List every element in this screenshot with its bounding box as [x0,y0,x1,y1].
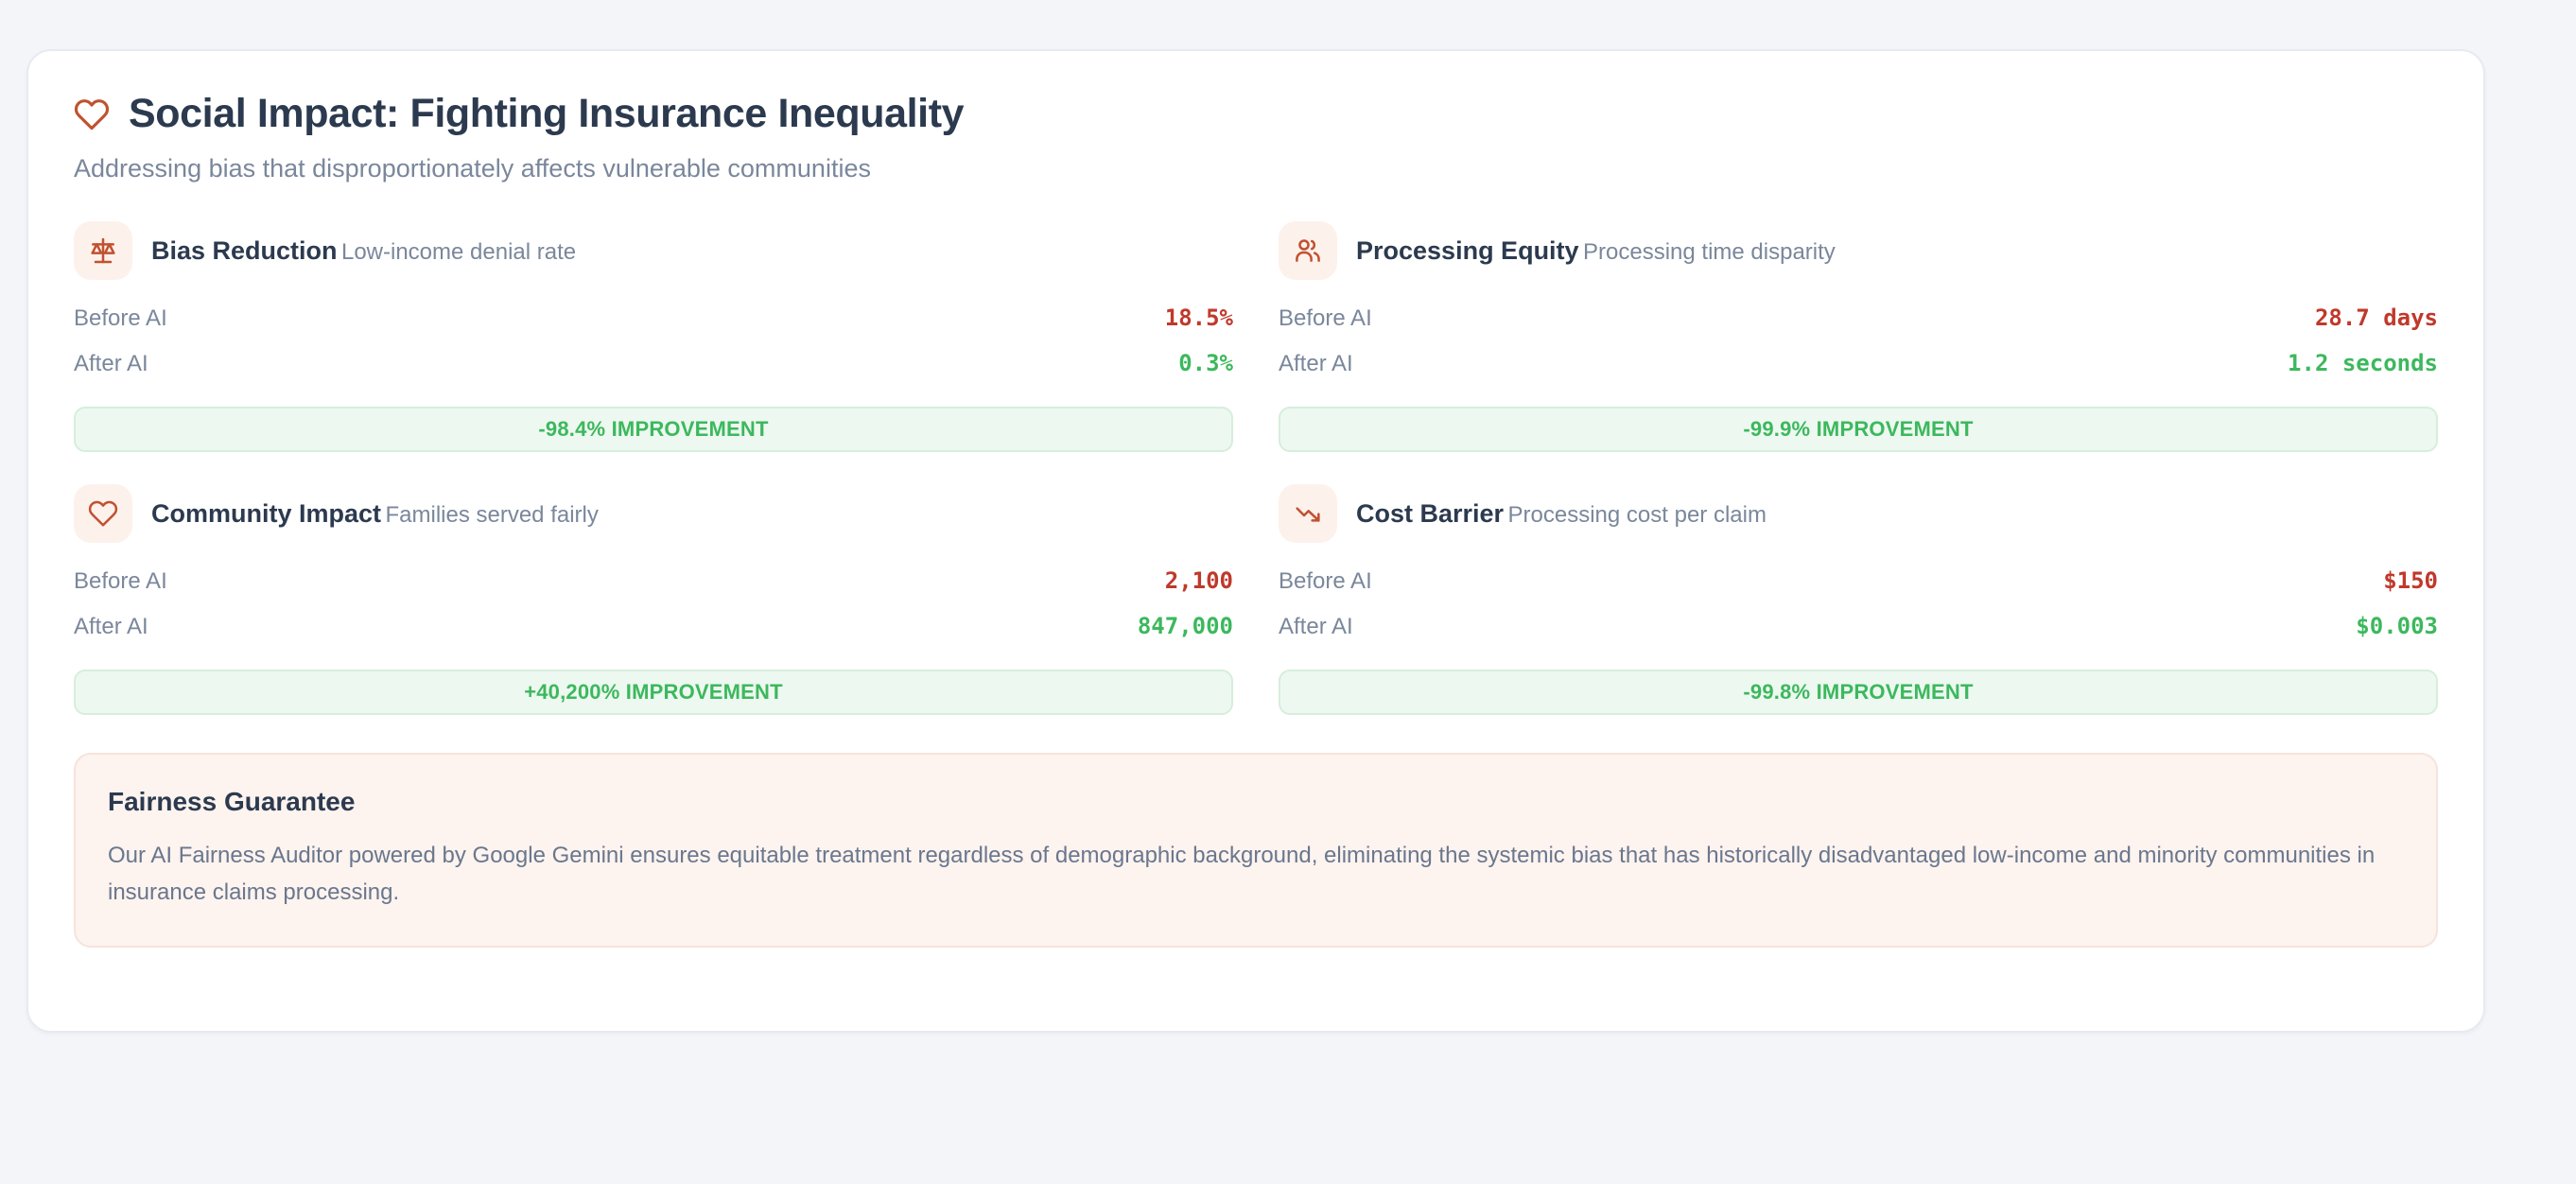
heart-icon [74,484,132,543]
heart-icon [74,96,110,132]
metric-rows: Before AI 18.5% After AI 0.3% [74,305,1233,395]
metric-row-after: After AI 1.2 seconds [1279,350,2438,395]
metric-label: Community Impact [151,499,381,528]
metric-row-before: Before AI 2,100 [74,567,1233,613]
row-value-before: 28.7 days [2315,305,2438,331]
metric-label: Processing Equity [1356,236,1579,265]
metric-header: Community Impact Families served fairly [74,484,1233,543]
trending-down-icon [1279,484,1337,543]
metric-rows: Before AI 2,100 After AI 847,000 [74,567,1233,658]
improvement-badge: +40,200% IMPROVEMENT [74,670,1233,715]
improvement-badge: -98.4% IMPROVEMENT [74,407,1233,452]
metric-sublabel: Processing time disparity [1583,239,1836,265]
social-impact-panel: Social Impact: Fighting Insurance Inequa… [26,49,2485,1033]
metric-card-processing-equity: Processing Equity Processing time dispar… [1279,221,2438,452]
metric-sublabel: Processing cost per claim [1508,502,1767,528]
metric-label: Cost Barrier [1356,499,1504,528]
metric-card-community-impact: Community Impact Families served fairly … [74,484,1233,715]
metric-card-bias-reduction: Bias Reduction Low-income denial rate Be… [74,221,1233,452]
panel-header: Social Impact: Fighting Insurance Inequa… [74,93,2438,135]
improvement-badge: -99.9% IMPROVEMENT [1279,407,2438,452]
metric-rows: Before AI $150 After AI $0.003 [1279,567,2438,658]
row-label: Before AI [1279,568,1372,595]
page-title: Social Impact: Fighting Insurance Inequa… [129,93,964,135]
row-label: Before AI [74,305,167,332]
row-value-after: 847,000 [1138,613,1233,639]
metric-header: Processing Equity Processing time dispar… [1279,221,2438,280]
metric-row-before: Before AI 28.7 days [1279,305,2438,350]
page-root: Social Impact: Fighting Insurance Inequa… [0,0,2576,1184]
metric-header: Bias Reduction Low-income denial rate [74,221,1233,280]
metric-titles: Cost Barrier Processing cost per claim [1356,498,1767,530]
row-value-before: 18.5% [1165,305,1233,331]
metric-rows: Before AI 28.7 days After AI 1.2 seconds [1279,305,2438,395]
metric-header: Cost Barrier Processing cost per claim [1279,484,2438,543]
fairness-guarantee-callout: Fairness Guarantee Our AI Fairness Audit… [74,753,2438,948]
metric-titles: Community Impact Families served fairly [151,498,599,530]
users-icon [1279,221,1337,280]
metric-titles: Processing Equity Processing time dispar… [1356,235,1836,267]
metric-row-before: Before AI 18.5% [74,305,1233,350]
row-label: After AI [74,351,148,377]
row-value-before: $150 [2383,567,2438,594]
row-label: Before AI [1279,305,1372,332]
metric-row-before: Before AI $150 [1279,567,2438,613]
metric-label: Bias Reduction [151,236,338,265]
metric-row-after: After AI 847,000 [74,613,1233,658]
row-value-after: 0.3% [1178,350,1233,376]
page-subtitle: Addressing bias that disproportionately … [74,154,2438,183]
row-value-before: 2,100 [1165,567,1233,594]
metric-row-after: After AI $0.003 [1279,613,2438,658]
fairness-body: Our AI Fairness Auditor powered by Googl… [108,838,2396,912]
row-label: After AI [74,614,148,640]
improvement-badge: -99.8% IMPROVEMENT [1279,670,2438,715]
metrics-grid: Bias Reduction Low-income denial rate Be… [74,221,2438,715]
row-value-after: $0.003 [2356,613,2438,639]
row-value-after: 1.2 seconds [2288,350,2438,376]
metric-sublabel: Low-income denial rate [341,239,576,265]
fairness-title: Fairness Guarantee [108,787,2404,817]
metric-sublabel: Families served fairly [385,502,598,528]
scales-icon [74,221,132,280]
row-label: Before AI [74,568,167,595]
metric-row-after: After AI 0.3% [74,350,1233,395]
row-label: After AI [1279,351,1353,377]
row-label: After AI [1279,614,1353,640]
metric-card-cost-barrier: Cost Barrier Processing cost per claim B… [1279,484,2438,715]
metric-titles: Bias Reduction Low-income denial rate [151,235,576,267]
